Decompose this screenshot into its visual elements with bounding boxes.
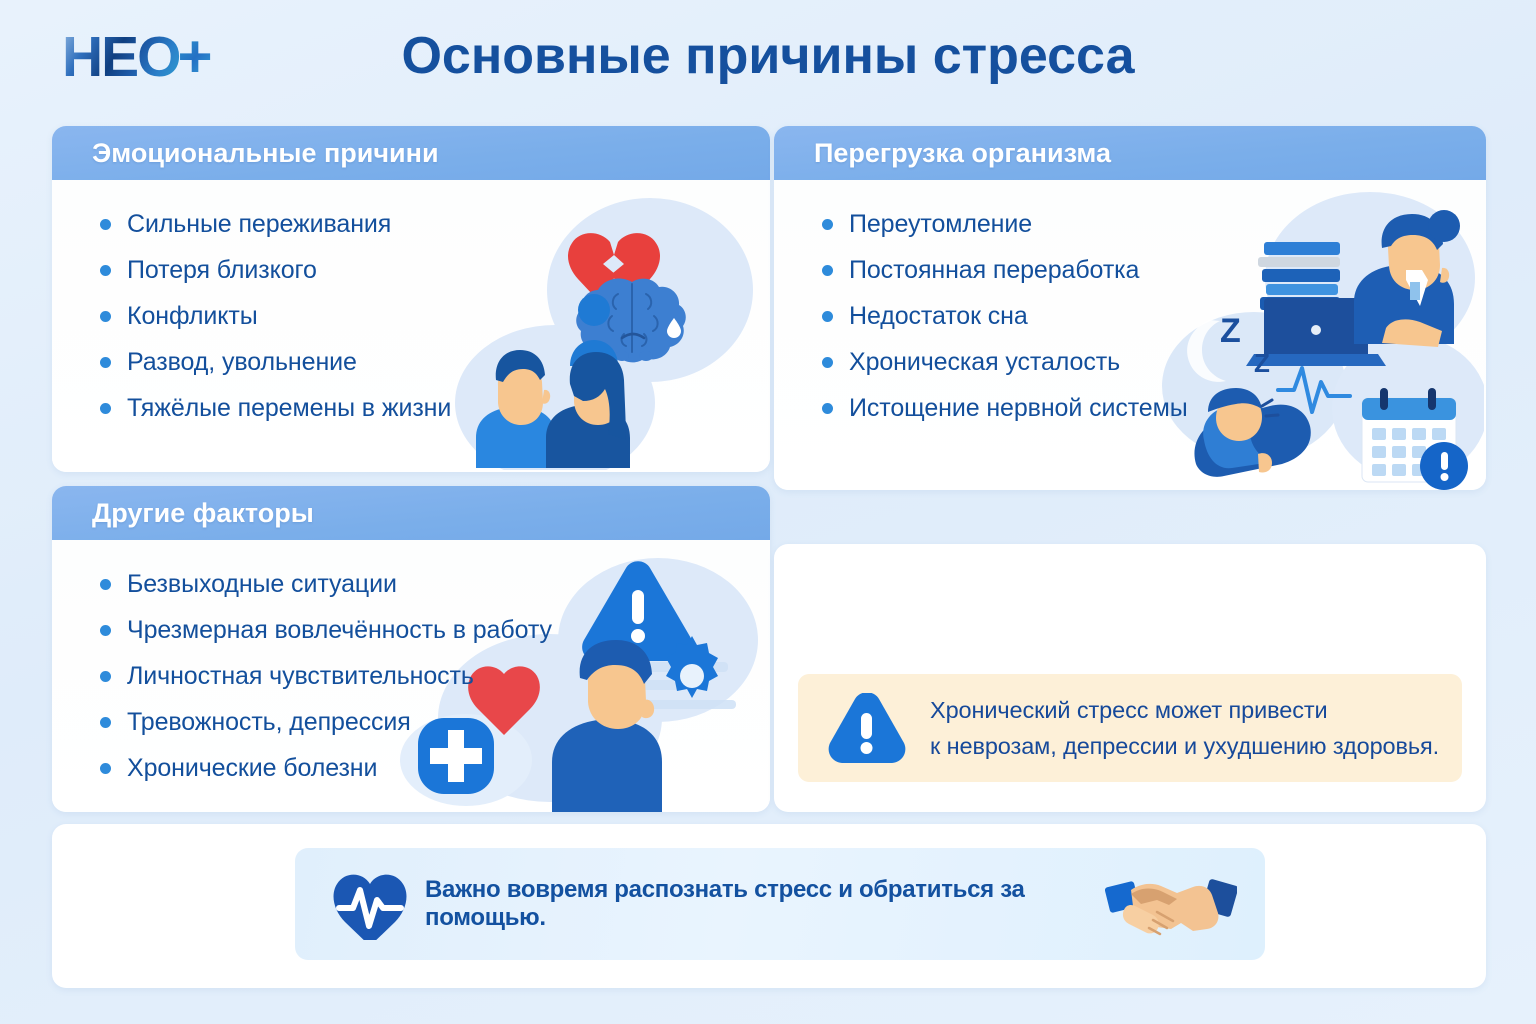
page-title: Основные причины стресса	[0, 26, 1536, 86]
list-item-label: Хронические болезни	[127, 754, 377, 783]
bullet-dot-icon	[100, 357, 111, 368]
warning-text-line2: к неврозам, депрессии и ухудшению здоров…	[930, 728, 1439, 764]
header: НЕО + Основные причины стресса	[0, 0, 1536, 118]
list-item-label: Переутомление	[849, 210, 1032, 239]
card-header-overload: Перегрузка организма	[774, 126, 1486, 180]
bullet-dot-icon	[822, 311, 833, 322]
list-item-label: Истощение нервной системы	[849, 394, 1188, 423]
list-item: Конфликты	[52, 302, 770, 331]
bullet-list-overload: Переутомление Постоянная переработка Нед…	[774, 210, 1486, 423]
card-footer: Важно вовремя распознать стресс и обрати…	[52, 824, 1486, 988]
bullet-dot-icon	[100, 403, 111, 414]
list-item: Хроническая усталость	[774, 348, 1486, 377]
footer-banner: Важно вовремя распознать стресс и обрати…	[295, 848, 1265, 960]
card-body-emotional: Сильные переживания Потеря близкого Конф…	[52, 180, 770, 472]
list-item-label: Безвыходные ситуации	[127, 570, 397, 599]
list-item-label: Тревожность, депрессия	[127, 708, 411, 737]
list-item-label: Личностная чувствительность	[127, 662, 474, 691]
card-emotional-causes: Эмоциональные причини	[52, 126, 770, 472]
list-item-label: Недостаток сна	[849, 302, 1028, 331]
card-body-overload-inner: Z Z	[774, 180, 1486, 490]
list-item-label: Хроническая усталость	[849, 348, 1120, 377]
list-item: Чрезмерная вовлечённость в работу	[52, 616, 770, 645]
warning-triangle-icon	[828, 693, 906, 763]
bullet-dot-icon	[100, 265, 111, 276]
list-item-label: Постоянная переработка	[849, 256, 1139, 285]
card-title-overload: Перегрузка организма	[814, 138, 1111, 169]
bullet-dot-icon	[100, 311, 111, 322]
list-item: Потеря близкого	[52, 256, 770, 285]
bullet-dot-icon	[100, 625, 111, 636]
card-warning: Хронический стресс может привести к невр…	[774, 544, 1486, 812]
bullet-dot-icon	[100, 717, 111, 728]
list-item: Переутомление	[774, 210, 1486, 239]
bullet-dot-icon	[822, 219, 833, 230]
card-header-other: Другие факторы	[52, 486, 770, 540]
bullet-dot-icon	[100, 763, 111, 774]
bullet-dot-icon	[100, 219, 111, 230]
bullet-list-other: Безвыходные ситуации Чрезмерная вовлечён…	[52, 570, 770, 783]
warning-callout: Хронический стресс может привести к невр…	[798, 674, 1462, 782]
list-item: Безвыходные ситуации	[52, 570, 770, 599]
infographic-root: НЕО + Основные причины стресса Эмоционал…	[0, 0, 1536, 1024]
warning-text: Хронический стресс может привести к невр…	[930, 692, 1439, 765]
handshake-icon	[1105, 868, 1237, 940]
card-body-other: Безвыходные ситуации Чрезмерная вовлечён…	[52, 540, 770, 812]
bullet-dot-icon	[822, 357, 833, 368]
bullet-dot-icon	[100, 671, 111, 682]
list-item: Истощение нервной системы	[774, 394, 1486, 423]
bullet-list-emotional: Сильные переживания Потеря близкого Конф…	[52, 210, 770, 423]
list-item-label: Потеря близкого	[127, 256, 317, 285]
bullet-dot-icon	[100, 579, 111, 590]
heart-pulse-icon	[331, 868, 409, 940]
card-header-emotional: Эмоциональные причини	[52, 126, 770, 180]
warning-text-line1: Хронический стресс может привести	[930, 692, 1439, 728]
list-item-label: Конфликты	[127, 302, 258, 331]
card-body-overload: Перегрузка организма	[774, 126, 1486, 490]
list-item-label: Чрезмерная вовлечённость в работу	[127, 616, 552, 645]
list-item-label: Тяжёлые перемены в жизни	[127, 394, 451, 423]
card-other-factors: Другие факторы	[52, 486, 770, 812]
list-item: Тревожность, депрессия	[52, 708, 770, 737]
list-item: Личностная чувствительность	[52, 662, 770, 691]
list-item: Хронические болезни	[52, 754, 770, 783]
list-item: Недостаток сна	[774, 302, 1486, 331]
list-item-label: Сильные переживания	[127, 210, 391, 239]
bullet-dot-icon	[822, 403, 833, 414]
list-item: Постоянная переработка	[774, 256, 1486, 285]
bullet-dot-icon	[822, 265, 833, 276]
list-item-label: Развод, увольнение	[127, 348, 357, 377]
card-title-emotional: Эмоциональные причини	[92, 138, 439, 169]
footer-text: Важно вовремя распознать стресс и обрати…	[425, 876, 1105, 932]
list-item: Развод, увольнение	[52, 348, 770, 377]
list-item: Тяжёлые перемены в жизни	[52, 394, 770, 423]
card-title-other: Другие факторы	[92, 498, 314, 529]
list-item: Сильные переживания	[52, 210, 770, 239]
